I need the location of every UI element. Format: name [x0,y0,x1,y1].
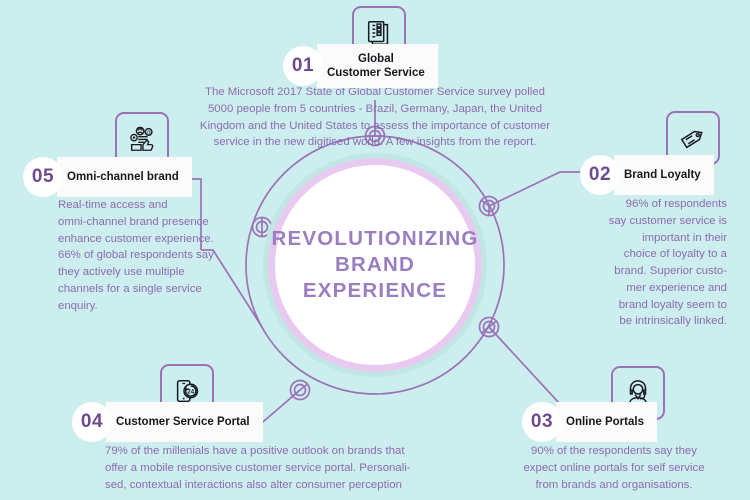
badge-03[interactable]: 03 Online Portals [522,402,657,442]
label-05: Omni-channel brand [57,157,192,197]
body-03: 90% of the respondents say they expect o… [480,443,748,493]
number-04: 04 [72,402,112,442]
node-03 [480,318,499,337]
svg-text:24: 24 [187,389,194,395]
badge-01[interactable]: 01 Global Customer Service [283,46,438,86]
svg-text:@: @ [146,130,151,136]
omni-channel-icon: @ [127,124,157,154]
label-01: Global Customer Service [317,44,438,88]
body-01: The Microsoft 2017 State of Global Custo… [185,84,565,151]
brand-tag-icon [678,123,708,153]
center-hub: REVOLUTIONIZING BRAND EXPERIENCE [268,158,482,372]
badge-05[interactable]: 05 Omni-channel brand [23,157,192,197]
badge-02[interactable]: 02 Brand Loyalty [580,155,714,195]
label-03: Online Portals [556,402,657,442]
node-02 [480,197,499,216]
body-02: 96% of respondents say customer service … [575,196,727,330]
badge-04[interactable]: 04 Customer Service Portal [72,402,263,442]
number-05: 05 [23,157,63,197]
number-01: 01 [283,46,323,86]
node-05 [253,218,272,237]
body-04: 79% of the millenials have a positive ou… [105,443,465,493]
number-02: 02 [580,155,620,195]
infographic-canvas: REVOLUTIONIZING BRAND EXPERIENCE 01 Glob… [0,0,750,500]
number-03: 03 [522,402,562,442]
label-02: Brand Loyalty [614,155,714,195]
node-04 [291,381,310,400]
body-05: Real-time access and omni-channel brand … [58,197,233,314]
label-04: Customer Service Portal [106,402,263,442]
center-title: REVOLUTIONIZING BRAND EXPERIENCE [271,226,478,305]
